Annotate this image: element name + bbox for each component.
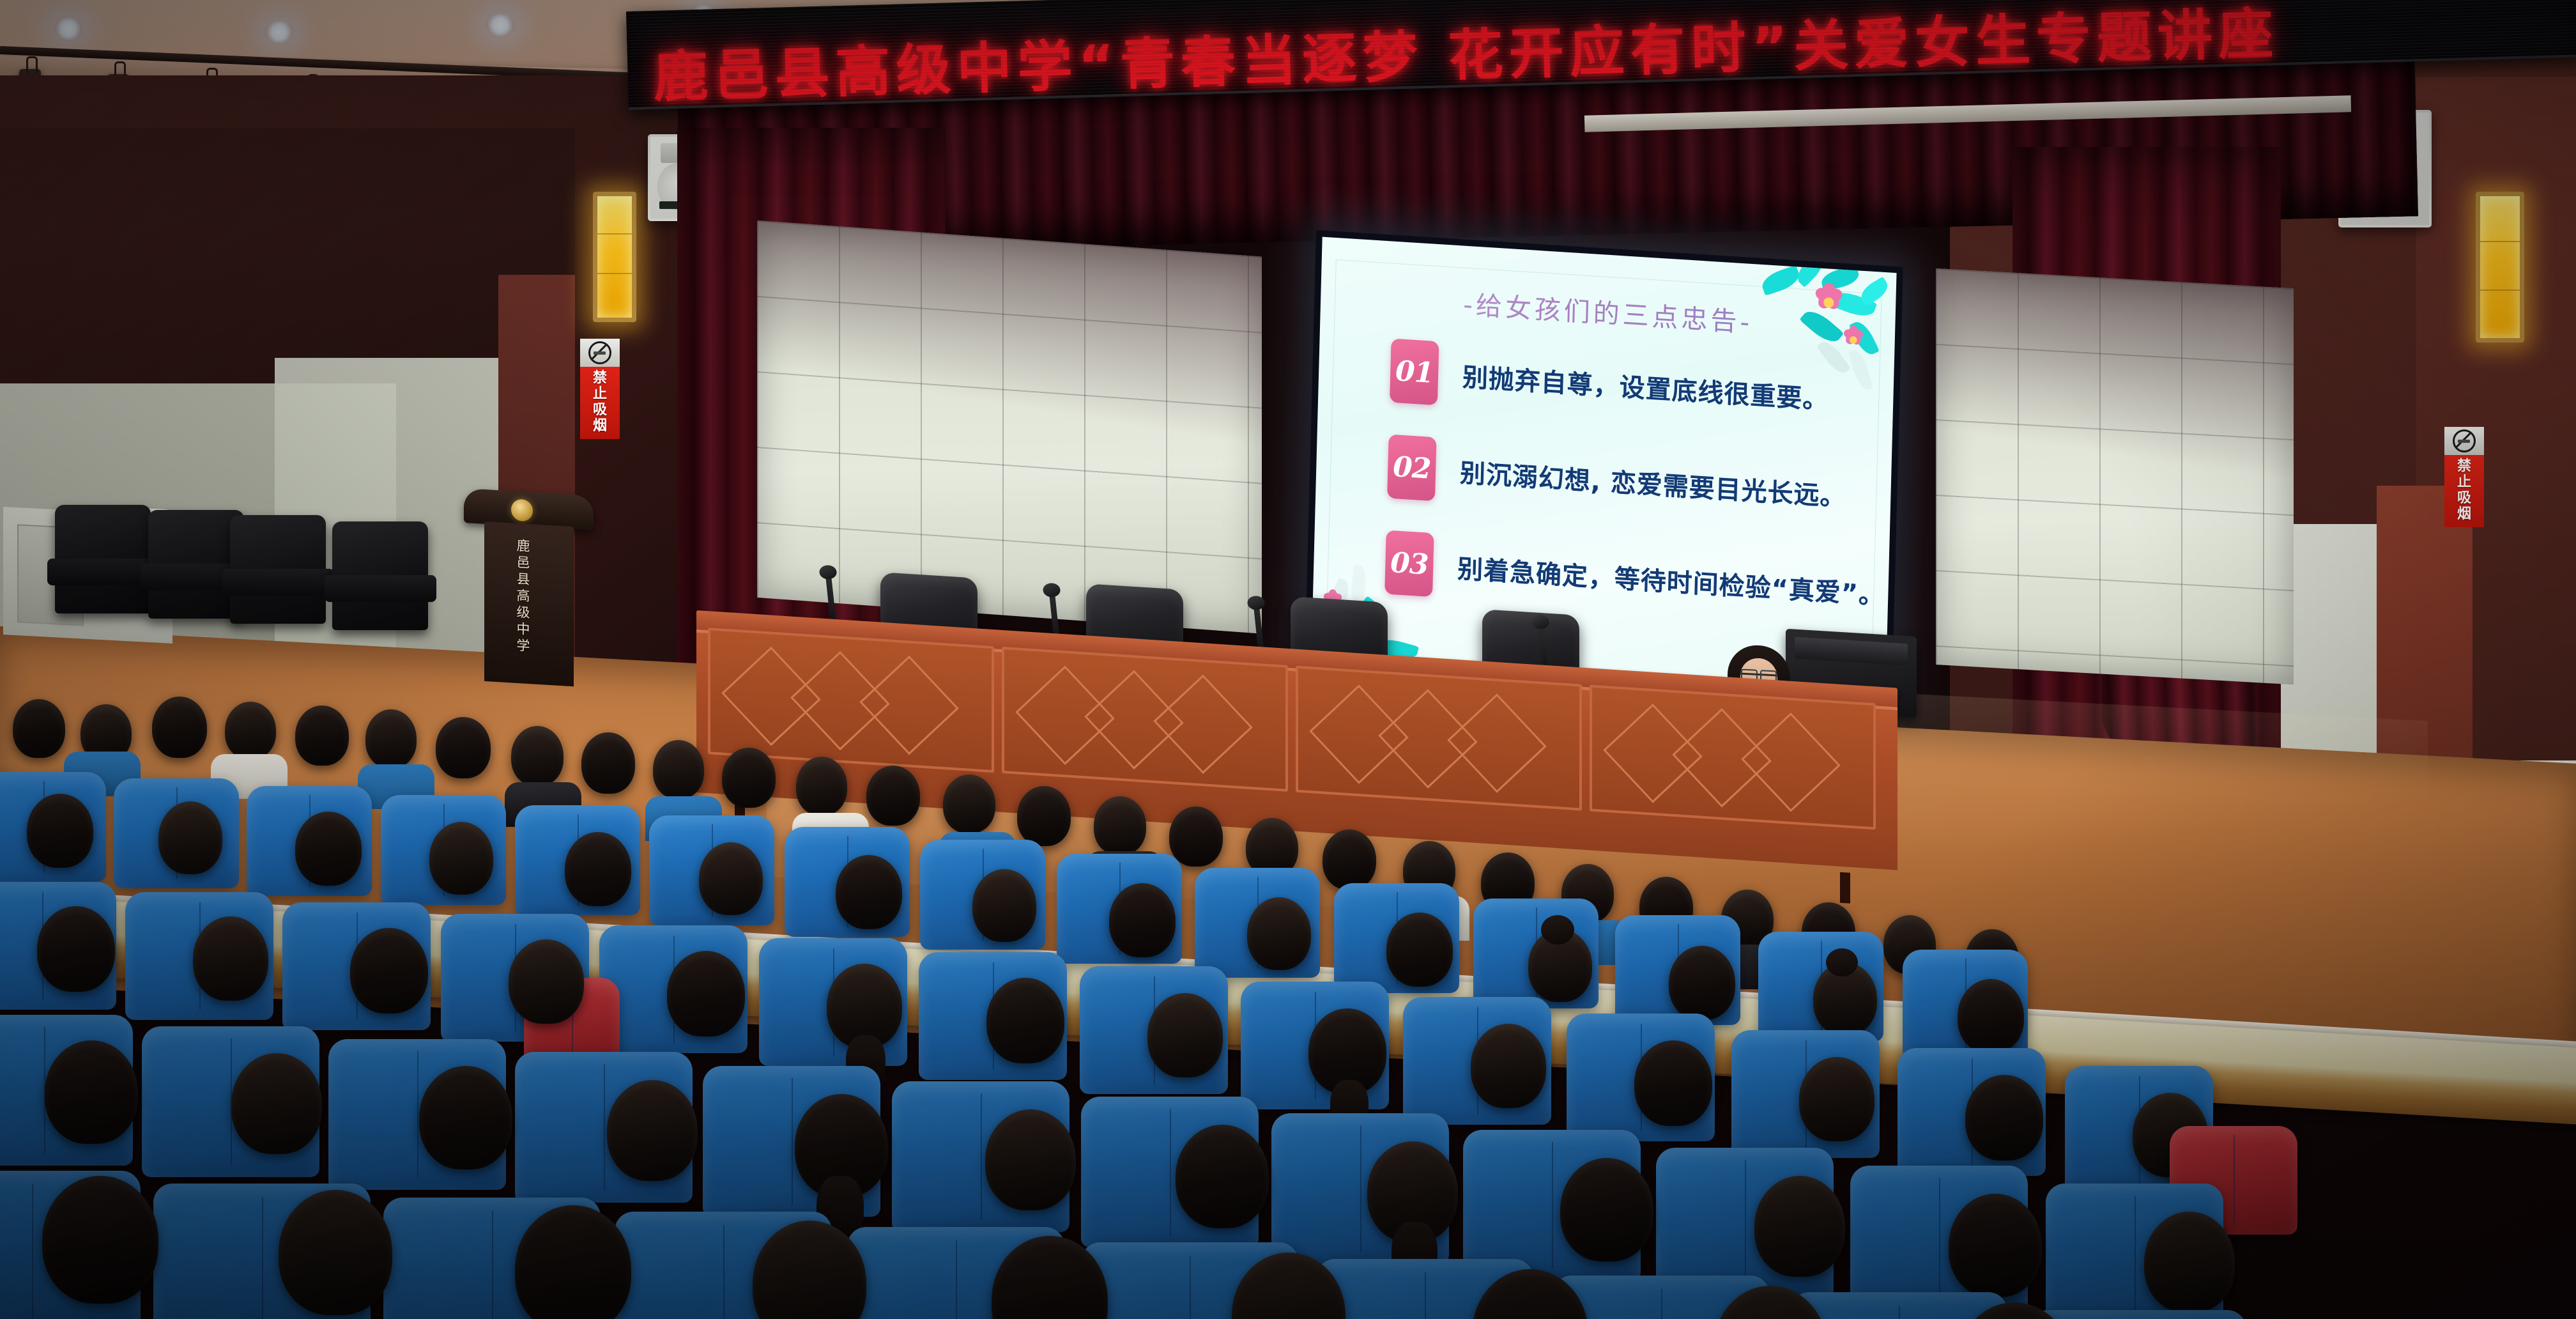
- audience-head: [1094, 796, 1146, 855]
- audience-head: [193, 916, 268, 1001]
- audience-head: [972, 869, 1036, 942]
- audience-head: [836, 855, 902, 929]
- audience-head: [1386, 913, 1453, 987]
- audience-head: [295, 812, 362, 886]
- audience-head: [1669, 946, 1735, 1020]
- audience-head: [1958, 979, 2024, 1053]
- audience-head: [866, 766, 920, 826]
- audience-head: [1471, 1024, 1546, 1108]
- ceiling-spotlight: [264, 21, 294, 43]
- slide-item-badge: 03: [1384, 530, 1434, 598]
- audience-head: [1169, 806, 1223, 867]
- no-smoking-label: 禁 止 吸 烟: [2444, 455, 2484, 527]
- stage-side-chair: [55, 505, 151, 613]
- school-emblem-icon: [511, 498, 533, 521]
- audience-head: [1634, 1040, 1712, 1126]
- audience-hair-bun: [1541, 915, 1574, 945]
- wall-sconce-left: [593, 192, 636, 322]
- no-smoking-icon: [580, 339, 620, 367]
- audience-head: [607, 1080, 698, 1181]
- slide-list-item: 03 别着急确定，等待时间检验“真爱”。: [1384, 530, 1851, 624]
- lectern-school-name: 鹿 邑 县 高 级 中 学: [510, 538, 537, 654]
- audience-head: [2144, 1212, 2235, 1313]
- audience-head: [1109, 883, 1176, 957]
- audience-head: [511, 726, 563, 786]
- leaf-icon: [1793, 251, 1828, 287]
- stage-side-chair: [230, 515, 326, 624]
- audience-head: [1247, 897, 1311, 970]
- audience-head: [158, 801, 222, 874]
- audience-head: [225, 702, 276, 759]
- audience-head: [42, 1176, 158, 1304]
- slide-item-text: 别着急确定，等待时间检验“真爱”。: [1457, 548, 1885, 612]
- audience-head: [1949, 1194, 2042, 1297]
- audience-head: [436, 717, 491, 778]
- audience-head: [13, 699, 65, 758]
- stage-side-chair: [332, 521, 428, 630]
- slide-item-number: 03: [1390, 546, 1429, 581]
- audience-head: [796, 757, 847, 815]
- leaf-icon: [1820, 266, 1861, 290]
- audience-head: [985, 1109, 1076, 1210]
- audience-head: [1147, 993, 1223, 1077]
- audience-head: [295, 706, 349, 766]
- audience-head: [1965, 1075, 2043, 1161]
- auditorium-scene: 禁 止 吸 烟 禁 止 吸 烟: [0, 0, 2576, 1319]
- slide-item-text: 别抛弃自尊，设置底线很重要。: [1462, 357, 1829, 417]
- audience-head: [1799, 1057, 1874, 1141]
- ceiling-spotlight: [486, 14, 515, 36]
- audience-head: [565, 832, 631, 906]
- slide-item-badge: 01: [1390, 339, 1439, 406]
- audience-head: [509, 939, 584, 1024]
- auditorium-seat[interactable]: [2029, 1310, 2246, 1319]
- audience-head: [429, 822, 493, 895]
- audience-head: [1017, 786, 1071, 846]
- slide-item-badge: 02: [1387, 435, 1437, 502]
- audience-head: [37, 906, 115, 992]
- slide-advice-list: 01 别抛弃自尊，设置底线很重要。 02 别沉溺幻想, 恋爱需要目光长远。 03…: [1384, 339, 1856, 656]
- audience-head: [152, 697, 207, 758]
- audience-head: [581, 732, 635, 794]
- no-smoking-sign-right: 禁 止 吸 烟: [2444, 427, 2484, 527]
- audience-head: [1754, 1176, 1845, 1277]
- audience-head: [515, 1205, 631, 1319]
- audience-head: [699, 842, 763, 915]
- slide-item-text: 别沉溺幻想, 恋爱需要目光长远。: [1459, 452, 1846, 514]
- auditorium-seat[interactable]: [1790, 1292, 2007, 1319]
- audience-head: [350, 928, 428, 1014]
- ceiling-spotlight: [54, 18, 83, 40]
- audience-area: [0, 690, 2576, 1319]
- slide-item-number: 01: [1395, 355, 1433, 390]
- audience-head: [722, 748, 776, 808]
- audience-head: [667, 951, 745, 1037]
- no-smoking-sign-left: 禁 止 吸 烟: [580, 339, 620, 439]
- wall-sconce-right: [2476, 192, 2524, 343]
- slide-list-item: 02 别沉溺幻想, 恋爱需要目光长远。: [1387, 435, 1853, 528]
- audience-head: [279, 1190, 392, 1315]
- audience-head: [986, 978, 1064, 1063]
- acoustic-wall-panels-right: [1936, 268, 2294, 684]
- audience-head: [231, 1053, 322, 1154]
- audience-hair-bun: [1826, 948, 1858, 976]
- audience-head: [653, 740, 704, 799]
- audience-head: [1560, 1158, 1653, 1261]
- audience-head: [1176, 1125, 1269, 1228]
- slide-item-number: 02: [1393, 451, 1431, 486]
- lectern: 鹿 邑 县 高 级 中 学: [473, 489, 585, 706]
- audience-head: [943, 775, 995, 833]
- no-smoking-label: 禁 止 吸 烟: [580, 367, 620, 439]
- audience-head: [45, 1040, 138, 1144]
- no-smoking-icon: [2444, 427, 2484, 455]
- audience-head: [27, 794, 93, 868]
- audience-head: [365, 709, 417, 768]
- audience-head: [1322, 829, 1376, 890]
- audience-head: [419, 1066, 512, 1169]
